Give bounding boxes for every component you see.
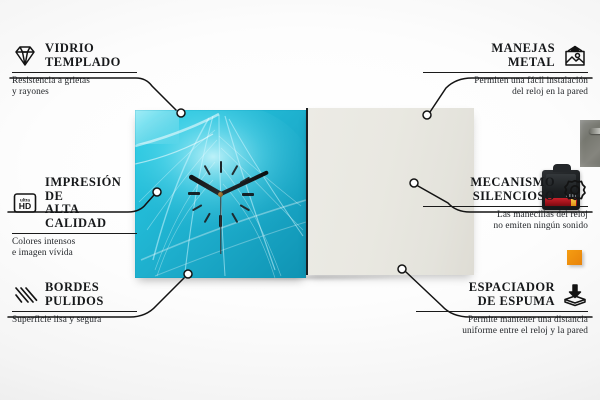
foam-spacer-arrow-icon [562, 283, 588, 307]
callout-rule [416, 311, 588, 312]
callout-subtitle-line1: Superficie lisa y segura [12, 315, 137, 326]
callout-subtitle-line1: Las manecillas del reloj [423, 210, 588, 221]
callout-title-line2: ALTA CALIDAD [45, 203, 137, 230]
callout-subtitle-line2: no emiten ningún sonido [423, 221, 588, 232]
mechanism-hook [553, 164, 571, 172]
picture-frame-hook-icon [562, 44, 588, 68]
callout-impresion-alta-calidad[interactable]: ultra HD IMPRESIÓN DE ALTA CALIDAD Color… [12, 176, 137, 259]
callout-title-line2: SILENCIOSO [470, 190, 555, 204]
callout-title-line1: MANEJAS [491, 42, 555, 56]
callout-subtitle-line2: uniforme entre el reloj y la pared [416, 326, 588, 337]
callout-rule [12, 233, 137, 234]
callout-subtitle-line1: Permite mantener una distancia [416, 315, 588, 326]
callout-subtitle-line1: Resistencia a grietas [12, 76, 137, 87]
callout-bordes-pulidos[interactable]: BORDES PULIDOS Superficie lisa y segura [12, 281, 137, 326]
ultra-hd-icon: ultra HD [12, 191, 38, 215]
clock-second-hand [220, 194, 221, 254]
callout-vidrio-templado[interactable]: VIDRIO TEMPLADO Resistencia a grietas y … [12, 42, 137, 98]
diamond-icon [12, 44, 38, 68]
clock-face-panel [135, 110, 306, 278]
callout-title-line1: BORDES [45, 281, 104, 295]
callout-rule [12, 311, 137, 312]
callout-title-line1: MECANISMO [470, 176, 555, 190]
gear-icon [562, 178, 588, 202]
callout-subtitle-line1: Colores intensos [12, 237, 137, 248]
callout-subtitle-line2: e imagen vívida [12, 248, 137, 259]
callout-rule [423, 206, 588, 207]
callout-rule [12, 72, 137, 73]
product-image-group [133, 106, 473, 281]
clock-center-cap [218, 192, 223, 197]
callout-title-line2: TEMPLADO [45, 56, 121, 70]
ultra-hd-icon-main-text: HD [19, 201, 31, 211]
polished-edges-icon [12, 283, 38, 307]
callout-espaciador-de-espuma[interactable]: ESPACIADOR DE ESPUMA Permite mantener un… [416, 281, 588, 337]
callout-title-line1: VIDRIO [45, 42, 121, 56]
foam-spacer-square [567, 250, 582, 265]
callout-rule [423, 72, 588, 73]
hanger-slot [589, 128, 600, 134]
callout-subtitle-line1: Permiten una fácil instalación [423, 76, 588, 87]
callout-title-line1: IMPRESIÓN DE [45, 176, 137, 203]
product-feature-infographic: VIDRIO TEMPLADO Resistencia a grietas y … [0, 0, 600, 400]
metal-hanger-plate [580, 120, 600, 167]
callout-title-line2: PULIDOS [45, 295, 104, 309]
callout-title-line2: DE ESPUMA [469, 295, 555, 309]
callout-manejas-metal[interactable]: MANEJAS METAL Permiten una fácil instala… [423, 42, 588, 98]
callout-title-line2: METAL [491, 56, 555, 70]
clock-dial [135, 110, 306, 278]
callout-subtitle-line2: del reloj en la pared [423, 87, 588, 98]
callout-mecanismo-silencioso[interactable]: MECANISMO SILENCIOSO Las manecillas del … [423, 176, 588, 232]
callout-title-line1: ESPACIADOR [469, 281, 555, 295]
callout-subtitle-line2: y rayones [12, 87, 137, 98]
